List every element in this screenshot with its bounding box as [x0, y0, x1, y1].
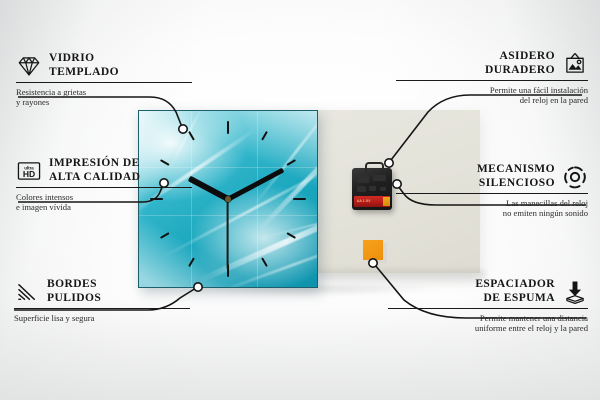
clock-center-cap: [225, 196, 231, 202]
feature-heading-row: VIDRIO TEMPLADO: [16, 52, 192, 79]
glass-grid-line: [257, 111, 258, 287]
battery-label: AA 1.5V: [357, 199, 371, 203]
ultra-hd-icon: ultra HD: [16, 158, 42, 184]
feature-title-line2: DE ESPUMA: [475, 292, 555, 306]
feature-divider: [16, 187, 192, 188]
hanging-frame-icon: [562, 51, 588, 77]
feature-desc-line1: Colores intensos: [16, 192, 192, 203]
feature-desc-line1: Permite una fácil instalación: [396, 85, 588, 96]
feature-divider: [388, 308, 588, 309]
feature-title-line2: TEMPLADO: [49, 66, 119, 80]
feature-heading-row: ultra HD IMPRESIÓN DE ALTA CALIDAD: [16, 157, 192, 184]
mechanism-detail: [357, 186, 366, 192]
infographic-canvas: AA 1.5V: [0, 0, 600, 400]
feature-desc-line2: no emiten ningún sonido: [396, 208, 588, 219]
feature-title-line2: ALTA CALIDAD: [49, 171, 140, 185]
feature-desc-line2: e imagen vívida: [16, 202, 192, 213]
mechanism-battery: AA 1.5V: [354, 196, 390, 207]
mechanism-detail: [369, 186, 376, 191]
feature-mecanismo-silencioso: MECANISMO SILENCIOSO Las manecillas del …: [396, 163, 588, 219]
clock-mechanism: AA 1.5V: [352, 168, 392, 210]
mechanism-detail: [380, 187, 386, 191]
glass-streak: [214, 234, 318, 288]
glass-streak: [257, 135, 318, 232]
feature-desc-line1: Superficie lisa y segura: [14, 313, 190, 324]
feature-divider: [396, 193, 588, 194]
feature-desc-line2: del reloj en la pared: [396, 95, 588, 106]
feature-title-line1: ESPACIADOR: [475, 278, 555, 292]
feature-heading-row: ASIDERO DURADERO: [396, 50, 588, 77]
feature-title-line1: IMPRESIÓN DE: [49, 157, 140, 171]
feature-title-line2: PULIDOS: [47, 292, 101, 306]
feature-title-line1: VIDRIO: [49, 52, 119, 66]
clock-hour-hand: [188, 176, 230, 202]
clock-tick: [261, 257, 268, 267]
polished-edges-icon: [14, 279, 40, 305]
gear-icon: [562, 164, 588, 190]
feature-desc-line2: y rayones: [16, 97, 192, 108]
feature-bordes-pulidos: BORDES PULIDOS Superficie lisa y segura: [14, 278, 190, 323]
feature-impresion-alta-calidad: ultra HD IMPRESIÓN DE ALTA CALIDAD Color…: [16, 157, 192, 213]
feature-title-line2: DURADERO: [485, 64, 555, 78]
feature-title: ESPACIADOR DE ESPUMA: [475, 278, 555, 305]
feature-desc-line1: Permite mantener una distancia: [388, 313, 588, 324]
feature-title: IMPRESIÓN DE ALTA CALIDAD: [49, 157, 140, 184]
feature-title-line1: BORDES: [47, 278, 101, 292]
feature-heading-row: ESPACIADOR DE ESPUMA: [388, 278, 588, 305]
clock-second-hand: [227, 199, 229, 269]
ultra-hd-big-label: HD: [23, 169, 35, 179]
feature-espaciador-de-espuma: ESPACIADOR DE ESPUMA Permite mantener un…: [388, 278, 588, 334]
feature-divider: [396, 80, 588, 81]
feature-title-line1: MECANISMO: [477, 163, 555, 177]
feature-title: MECANISMO SILENCIOSO: [477, 163, 555, 190]
arrow-down-pad-icon: [562, 279, 588, 305]
feature-desc-line2: uniforme entre el reloj y la pared: [388, 323, 588, 334]
feature-asidero-duradero: ASIDERO DURADERO Permite una fácil insta…: [396, 50, 588, 106]
mechanism-detail: [357, 175, 369, 183]
clock-tick: [227, 121, 229, 134]
clock-tick: [293, 198, 306, 200]
feature-vidrio-templado: VIDRIO TEMPLADO Resistencia a grietas y …: [16, 52, 192, 108]
feature-heading-row: BORDES PULIDOS: [14, 278, 190, 305]
feature-title: ASIDERO DURADERO: [485, 50, 555, 77]
feature-title: BORDES PULIDOS: [47, 278, 101, 305]
feature-desc-line1: Resistencia a grietas: [16, 87, 192, 98]
feature-divider: [14, 308, 190, 309]
mechanism-hanger: [365, 162, 384, 172]
feature-title: VIDRIO TEMPLADO: [49, 52, 119, 79]
diamond-icon: [16, 53, 42, 79]
clock-tick: [160, 232, 170, 239]
mechanism-detail: [373, 175, 386, 181]
feature-heading-row: MECANISMO SILENCIOSO: [396, 163, 588, 190]
clock-tick: [261, 131, 268, 141]
feature-divider: [16, 82, 192, 83]
feature-desc-line1: Las manecillas del reloj: [396, 198, 588, 209]
feature-title-line1: ASIDERO: [485, 50, 555, 64]
feature-title-line2: SILENCIOSO: [477, 177, 555, 191]
foam-spacer: [363, 240, 383, 260]
